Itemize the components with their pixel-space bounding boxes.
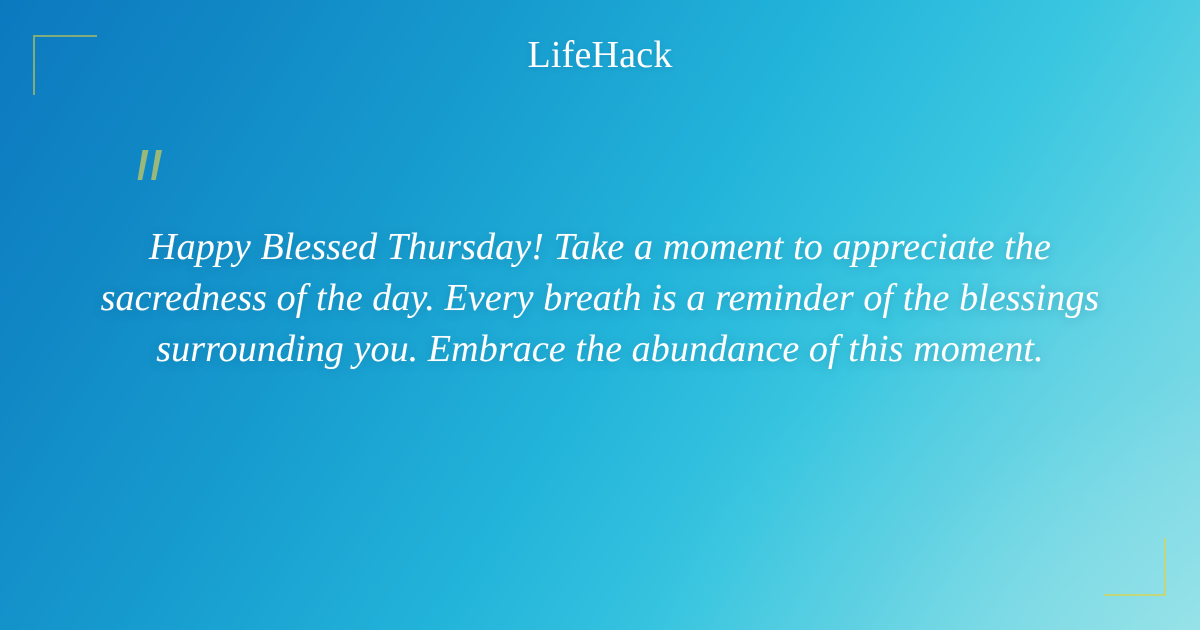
quotation-mark-icon (128, 146, 174, 198)
quote-card: LifeHack Happy Blessed Thursday! Take a … (0, 0, 1200, 630)
corner-bracket-bottom-right-icon (1104, 538, 1166, 596)
quote-text: Happy Blessed Thursday! Take a moment to… (100, 222, 1100, 375)
lifehack-logo: LifeHack (0, 36, 1200, 74)
